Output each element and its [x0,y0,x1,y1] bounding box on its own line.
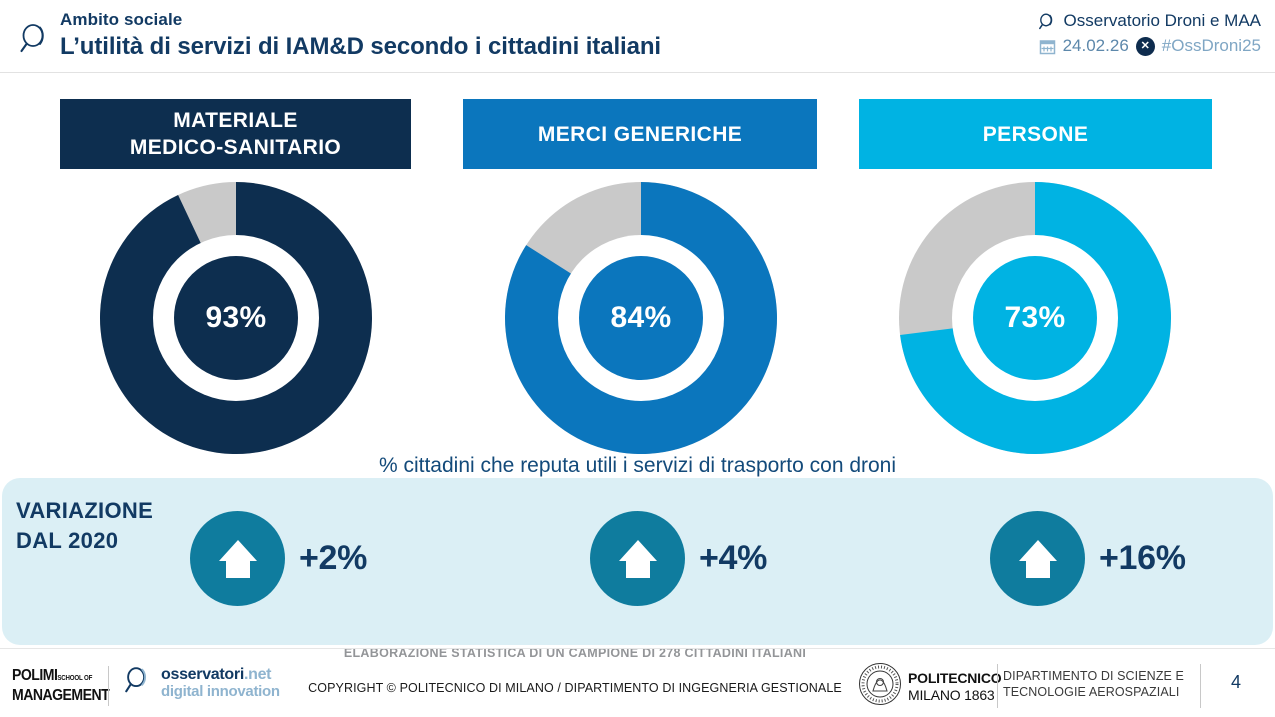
polimi-school-of-management-logo: POLIMISCHOOL OF MANAGEMENT [12,668,122,704]
calendar-icon [1039,38,1056,55]
polimi-logo-subword: SCHOOL OF [57,675,92,682]
donut-chart-row: 93% 84% 73% [0,182,1275,454]
variation-item-persone: +16% [990,511,1186,606]
variation-title: VARIAZIONE DAL 2020 [16,496,153,556]
variation-title-line2: DAL 2020 [16,526,153,556]
donut-value-1: 93% [100,182,372,454]
publication-date: 24.02.26 [1063,36,1129,56]
date-hashtag-row: 24.02.26 ✕ #OssDroni25 [1037,34,1261,58]
column-header-merci-generiche: MERCI GENERICHE [463,99,817,169]
politecnico-line2: MILANO 1863 [908,687,1001,704]
osservatori-line1: osservatori.net [161,666,280,683]
variation-panel: VARIAZIONE DAL 2020 +2% +4% +16% [2,478,1273,645]
polimi-logo-word: POLIMI [12,667,57,684]
page-number: 4 [1216,672,1256,693]
politecnico-seal-icon [858,662,902,706]
header-divider [0,72,1275,73]
variation-item-merci-generiche: +4% [590,511,767,606]
page-title-block: Ambito sociale L’utilità di servizi di I… [60,8,661,62]
column-header-materiale-medico-sanitario: MATERIALE MEDICO-SANITARIO [60,99,411,169]
column-header-line1: MERCI GENERICHE [538,121,742,148]
chart-caption: % cittadini che reputa utili i servizi d… [0,452,1275,479]
department-line1: DIPARTIMENTO DI SCIENZE E [1003,668,1184,684]
variation-value-2: +4% [699,539,767,578]
donut-chart-persone: 73% [899,182,1171,454]
hashtag-label[interactable]: #OssDroni25 [1162,36,1261,56]
osservatori-net-logo: osservatori.net digital innovation [122,664,280,701]
osservatori-loop-icon [122,664,154,701]
polimi-logo-line2: MANAGEMENT [12,687,109,704]
department-name: DIPARTIMENTO DI SCIENZE E TECNOLOGIE AER… [1003,668,1184,700]
variation-item-materiale-medico-sanitario: +2% [190,511,367,606]
column-header-line1: PERSONE [983,121,1089,148]
eyebrow-title: Ambito sociale [60,8,661,31]
footer-logo-divider-2 [997,664,998,708]
column-header-persone: PERSONE [859,99,1212,169]
osservatori-line2: digital innovation [161,683,280,700]
slide: Ambito sociale L’utilità di servizi di I… [0,0,1275,717]
osservatori-wordmark: osservatori.net digital innovation [161,666,280,700]
up-arrow-icon [590,511,685,606]
observatory-row: Osservatorio Droni e MAA [1037,8,1261,34]
slide-header: Ambito sociale L’utilità di servizi di I… [0,0,1275,73]
politecnico-line1: POLITECNICO [908,670,1001,687]
column-header-line2: MEDICO-SANITARIO [130,134,341,161]
donut-chart-materiale-medico-sanitario: 93% [100,182,372,454]
footer-divider [0,648,1275,649]
footer-logo-divider-1 [108,666,109,706]
politecnico-wordmark: POLITECNICO MILANO 1863 [908,670,1001,704]
up-arrow-icon [990,511,1085,606]
donut-value-3: 73% [899,182,1171,454]
donut-value-2: 84% [505,182,777,454]
variation-value-1: +2% [299,539,367,578]
observatory-loop-icon-small [1037,12,1056,31]
observatory-loop-icon [16,20,52,56]
footer-logo-divider-3 [1200,664,1201,708]
donut-chart-merci-generiche: 84% [505,182,777,454]
department-line2: TECNOLOGIE AEROSPAZIALI [1003,684,1184,700]
variation-value-3: +16% [1099,539,1186,578]
page-title: L’utilità di servizi di IAM&D secondo i … [60,31,661,62]
column-header-line1: MATERIALE [130,107,341,134]
osservatori-tld: .net [244,666,271,683]
polimi-logo-line1: POLIMISCHOOL OF [12,668,109,687]
variation-title-line1: VARIAZIONE [16,496,153,526]
header-meta: Osservatorio Droni e MAA 24.02.26 ✕ #Oss… [1037,8,1261,58]
x-social-icon[interactable]: ✕ [1136,37,1155,56]
osservatori-name: osservatori [161,666,244,683]
observatory-name: Osservatorio Droni e MAA [1064,11,1261,31]
up-arrow-icon [190,511,285,606]
